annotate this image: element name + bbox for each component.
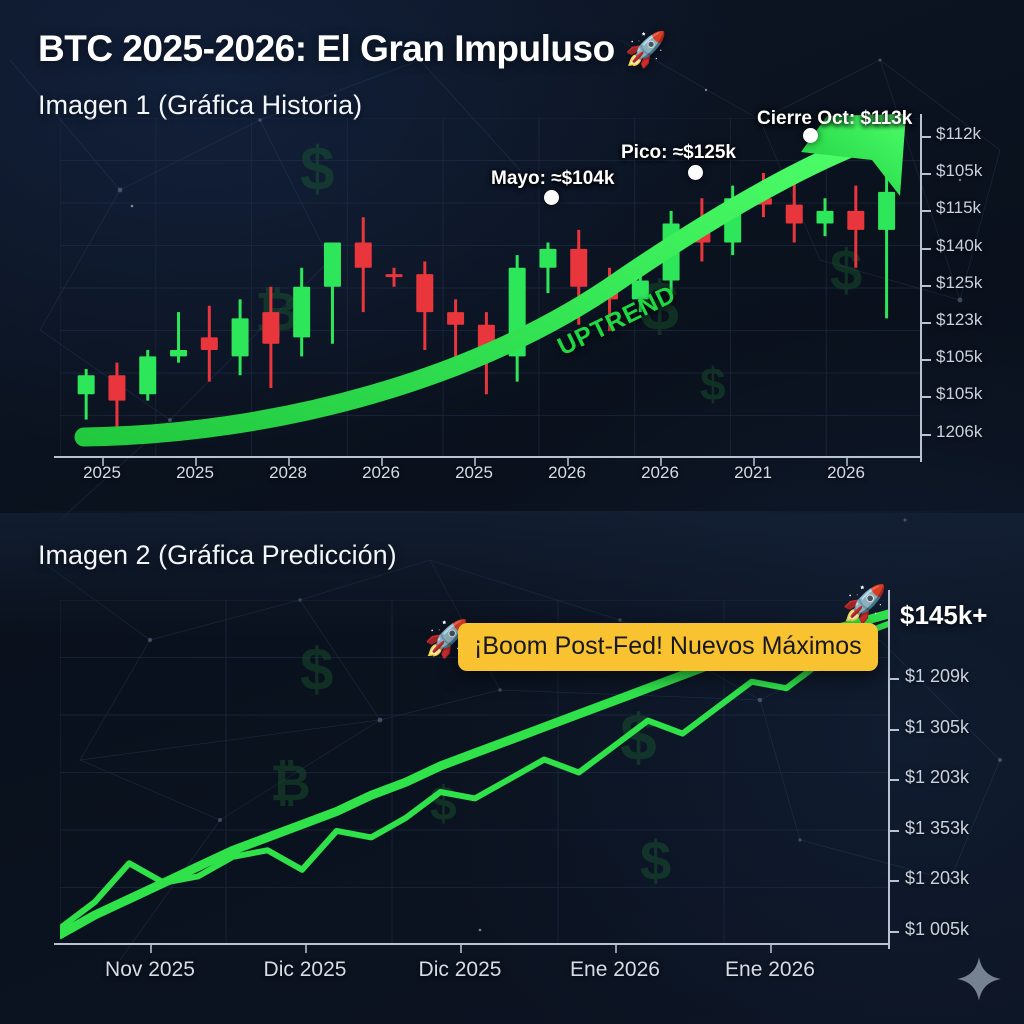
chart1-y-tick [922, 136, 931, 138]
chart1-y-tick [922, 173, 931, 175]
chart2-y-tick-label: $1 203k [905, 767, 969, 788]
chart2-y-tick-label: $1 203k [905, 868, 969, 889]
chart2-x-tick-label: Dic 2025 [230, 958, 380, 982]
annotation-cierre-label: Cierre Oct: $113k [757, 108, 912, 130]
chart2-x-tick-label: Ene 2026 [540, 958, 690, 982]
chart2-x-tick-label: Nov 2025 [75, 958, 225, 982]
chart2-y-axis [888, 590, 890, 949]
chart2-y-tick [890, 729, 899, 731]
chart1-y-tick-label: $123k [936, 310, 982, 330]
boom-badge[interactable]: ¡Boom Post-Fed! Nuevos Máximos [458, 623, 878, 671]
target-value-label: $145k+ [900, 600, 987, 631]
panel2-caption: Imagen 2 (Gráfica Predicción) [38, 540, 397, 571]
chart2-y-tick-label: $1 353k [905, 818, 969, 839]
chart2-y-tick [890, 880, 899, 882]
chart2-y-tick-label: $1 209k [905, 666, 969, 687]
page-title-text: BTC 2025-2026: El Gran Impuluso [38, 28, 615, 69]
chart1-y-tick [922, 210, 931, 212]
chart2-x-tick-label: Ene 2026 [695, 958, 845, 982]
chart1-x-tick-label: 2025 [155, 463, 235, 483]
chart2-x-tick [770, 945, 772, 953]
chart1-y-tick-label: $105k [936, 161, 982, 181]
chart1-y-tick-label: $115k [936, 198, 981, 218]
chart1-y-tick [922, 359, 931, 361]
chart1-x-tick-label: 2026 [341, 463, 421, 483]
chart1-y-axis [920, 114, 922, 462]
chart1-x-tick-label: 2026 [527, 463, 607, 483]
rocket-icon: 🚀 [625, 31, 667, 69]
sparkle-icon [956, 956, 1002, 1002]
chart1-y-tick-label: $112k [936, 124, 981, 144]
chart2-y-tick [890, 779, 899, 781]
chart1-y-tick [922, 248, 931, 250]
chart1-y-tick-label: $125k [936, 273, 982, 293]
chart2-x-axis [54, 943, 890, 945]
annotation-pico-label: Pico: ≈$125k [621, 142, 736, 164]
tip-rocket-icon: 🚀 [842, 583, 887, 625]
annotation-pico-dot [688, 165, 703, 180]
chart2-y-tick [890, 830, 899, 832]
chart2-x-tick [615, 945, 617, 953]
annotation-cierre-dot [803, 128, 818, 143]
panel1-caption: Imagen 1 (Gráfica Historia) [38, 90, 362, 121]
chart1-x-tick-label: 2025 [434, 463, 514, 483]
chart2-x-tick [460, 945, 462, 953]
annotation-mayo-dot [544, 190, 559, 205]
chart2-y-tick [890, 931, 899, 933]
chart2-x-tick [305, 945, 307, 953]
chart1-y-tick [922, 285, 931, 287]
chart2-x-tick-label: Dic 2025 [385, 958, 535, 982]
chart1-y-tick-label: $105k [936, 384, 982, 404]
chart1-x-tick-label: 2021 [713, 463, 793, 483]
chart1-x-tick-label: 2028 [248, 463, 328, 483]
chart1-x-tick-label: 2026 [806, 463, 886, 483]
annotation-mayo-label: Mayo: ≈$104k [491, 168, 614, 190]
chart1-y-tick-label: $140k [936, 236, 982, 256]
chart1-y-tick [922, 322, 931, 324]
chart1-x-tick-label: 2026 [620, 463, 700, 483]
chart1-y-tick [922, 434, 931, 436]
chart1-x-tick-label: 2025 [62, 463, 142, 483]
chart2-y-tick-label: $1 005k [905, 919, 969, 940]
page-title: BTC 2025-2026: El Gran Impuluso🚀 [38, 28, 667, 70]
chart1-x-axis [54, 456, 922, 458]
chart2-y-tick-label: $1 305k [905, 717, 969, 738]
chart2-x-tick [150, 945, 152, 953]
chart2-y-tick [890, 678, 899, 680]
chart1-y-tick [922, 396, 931, 398]
chart1-y-tick-label: 1206k [936, 422, 982, 442]
chart1-y-tick-label: $105k [936, 347, 982, 367]
